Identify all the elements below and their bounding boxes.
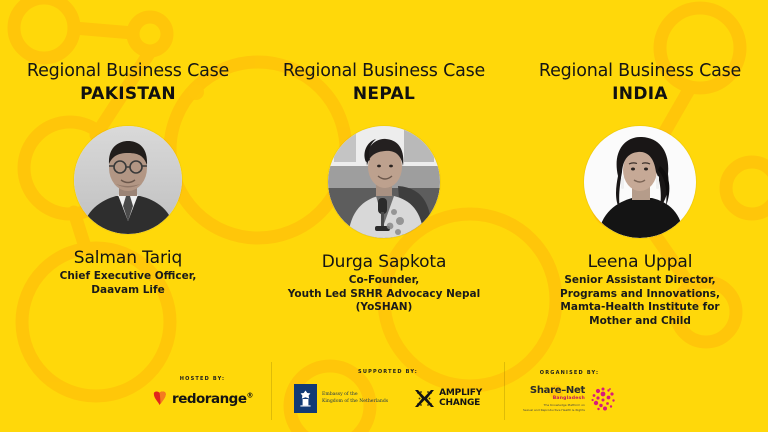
speaker-name-durga-sapkota: Durga Sapkota xyxy=(288,252,480,272)
header-eyebrow: Regional Business Case xyxy=(0,60,256,82)
share-net-bangladesh-logo: Share–Net Bangladesh The Knowledge Platf… xyxy=(523,385,616,412)
headers-row: Regional Business Case PAKISTAN Regional… xyxy=(0,60,768,116)
share-net-title: Share–Net xyxy=(523,385,585,396)
speaker-info-1: Salman Tariq Chief Executive Officer, Da… xyxy=(52,248,205,297)
speaker-photo-durga-sapkota xyxy=(328,126,440,238)
speaker-info-2: Durga Sapkota Co-Founder, Youth Led SRHR… xyxy=(280,252,488,315)
header-eyebrow: Regional Business Case xyxy=(512,60,768,82)
speaker-card-1: Salman Tariq Chief Executive Officer, Da… xyxy=(0,126,256,341)
speaker-role-line: Co-Founder, xyxy=(288,274,480,288)
speaker-name-salman-tariq: Salman Tariq xyxy=(60,248,197,268)
amplify-butterfly-icon xyxy=(414,388,435,409)
speaker-role-line: Daavam Life xyxy=(60,284,197,298)
netherlands-crest-icon xyxy=(294,384,317,413)
redorange-name: redorange xyxy=(172,391,246,407)
speaker-photo-leena-uppal xyxy=(584,126,696,238)
header-country-nepal: NEPAL xyxy=(256,83,512,105)
share-net-subtitle: Bangladesh xyxy=(523,396,585,402)
header-country-pakistan: PAKISTAN xyxy=(0,83,256,105)
speaker-role-line: Youth Led SRHR Advocacy Nepal xyxy=(288,288,480,302)
footer-caption-organised: ORGANISED BY: xyxy=(540,370,599,376)
amplify-change-wordmark: AMPLIFY CHANGE xyxy=(439,389,482,408)
slide-canvas: Regional Business Case PAKISTAN Regional… xyxy=(0,0,768,432)
speaker-card-2: Durga Sapkota Co-Founder, Youth Led SRHR… xyxy=(256,126,512,341)
speaker-role-1: Chief Executive Officer, Daavam Life xyxy=(60,270,197,297)
netherlands-embassy-logo: Embassy of the Kingdom of the Netherland… xyxy=(294,384,388,413)
share-net-dot-cluster-icon xyxy=(590,386,616,412)
partners-footer: HOSTED BY: redorange® SUPPORTED BY: xyxy=(0,350,768,432)
redorange-wordmark: redorange® xyxy=(172,391,253,407)
amplify-line-2: CHANGE xyxy=(439,399,482,409)
footer-caption-supported: SUPPORTED BY: xyxy=(358,369,418,375)
speaker-photo-salman-tariq xyxy=(74,126,182,234)
header-eyebrow: Regional Business Case xyxy=(256,60,512,82)
redorange-registered-icon: ® xyxy=(247,391,254,399)
header-country-india: INDIA xyxy=(512,83,768,105)
footer-group-hosted: HOSTED BY: redorange® xyxy=(134,360,271,422)
speaker-info-3: Leena Uppal Senior Assistant Director, P… xyxy=(552,252,728,328)
share-net-tagline-2: Sexual and Reproductive Health & Rights xyxy=(523,408,585,412)
redorange-logo: redorange® xyxy=(152,391,253,407)
speaker-role-line: Senior Assistant Director, xyxy=(560,274,720,288)
share-net-tagline-1: The Knowledge Platform on xyxy=(523,403,585,407)
footer-caption-hosted: HOSTED BY: xyxy=(180,376,225,382)
redorange-mark-icon xyxy=(152,391,168,406)
share-net-text: Share–Net Bangladesh The Knowledge Platf… xyxy=(523,385,585,412)
speaker-role-line: (YoSHAN) xyxy=(288,301,480,315)
speaker-role-line: Programs and Innovations, xyxy=(560,288,720,302)
speaker-role-2: Co-Founder, Youth Led SRHR Advocacy Nepa… xyxy=(288,274,480,315)
speaker-role-line: Mother and Child xyxy=(560,315,720,329)
speaker-name-leena-uppal: Leena Uppal xyxy=(560,252,720,272)
footer-group-supported: SUPPORTED BY: Embassy of the Kingdom of … xyxy=(272,360,504,422)
netherlands-line-2: Kingdom of the Netherlands xyxy=(322,399,388,405)
speaker-card-3: Leena Uppal Senior Assistant Director, P… xyxy=(512,126,768,341)
header-column-nepal: Regional Business Case NEPAL xyxy=(256,60,512,116)
speaker-role-line: Mamta-Health Institute for xyxy=(560,301,720,315)
speaker-role-3: Senior Assistant Director, Programs and … xyxy=(560,274,720,328)
footer-group-organised: ORGANISED BY: Share–Net Bangladesh The K… xyxy=(505,360,634,422)
amplify-change-logo: AMPLIFY CHANGE xyxy=(414,388,482,409)
netherlands-embassy-text: Embassy of the Kingdom of the Netherland… xyxy=(322,392,388,404)
header-column-pakistan: Regional Business Case PAKISTAN xyxy=(0,60,256,116)
header-column-india: Regional Business Case INDIA xyxy=(512,60,768,116)
speakers-row: Salman Tariq Chief Executive Officer, Da… xyxy=(0,126,768,341)
speaker-role-line: Chief Executive Officer, xyxy=(60,270,197,284)
